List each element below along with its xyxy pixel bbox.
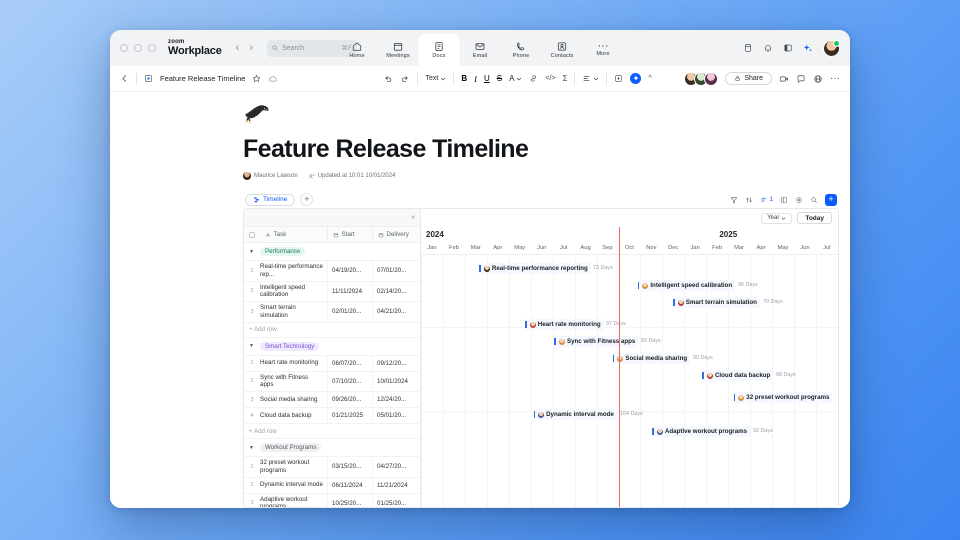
tab-meetings[interactable]: Meetings — [378, 34, 419, 66]
titlebar-actions — [743, 40, 840, 57]
underline-button[interactable]: U — [484, 74, 490, 83]
cloud-sync-icon — [268, 74, 278, 84]
chevron-down-icon — [516, 76, 522, 82]
table-row[interactable]: 2Intelligent speed calibration11/11/2024… — [244, 282, 420, 303]
text-style-label: Text — [425, 75, 438, 82]
cell-start-date[interactable]: 07/10/20... — [327, 372, 372, 392]
cell-task[interactable]: Real-time performance rep... — [260, 261, 327, 281]
cell-start-date[interactable]: 06/07/20... — [327, 356, 372, 371]
gantt-grid-area: Real-time performance reporting73 DaysIn… — [421, 255, 838, 507]
group-tag: Smart Technology — [260, 342, 319, 351]
column-header-task-label: Task — [274, 231, 287, 238]
today-marker-line — [619, 227, 620, 507]
table-row[interactable]: 2Sync with Fitness apps07/10/20...10/01/… — [244, 372, 420, 393]
chevron-down-icon — [781, 216, 786, 221]
ai-sparkle-icon[interactable] — [803, 43, 813, 53]
gantt-gridline — [640, 255, 641, 507]
gantt-duration-label: 95 Days — [738, 280, 758, 291]
gantt-chart-pane: Year Today 20242025 JanFebMarAprMayJunJu… — [421, 209, 838, 507]
add-record-button[interactable]: + — [825, 194, 837, 206]
gantt-month-tick: Jul — [553, 241, 575, 254]
home-icon — [352, 41, 363, 52]
widget-view-bar: Timeline + 1 — [243, 191, 839, 208]
timeline-body: « Task Start — [243, 208, 839, 508]
gantt-month-tick: Jun — [531, 241, 553, 254]
window-titlebar: zoom Workplace ‹ › Search ⌘F Home — [110, 30, 850, 66]
gantt-gridline — [443, 255, 444, 507]
table-header-row: Task Start Delivery — [244, 227, 420, 243]
gantt-bar-handle[interactable] — [534, 411, 536, 418]
column-header-start[interactable]: Start — [327, 227, 372, 242]
timeline-widget: Timeline + 1 — [243, 191, 839, 508]
strikethrough-button[interactable]: S — [497, 74, 502, 83]
page-title: Feature Release Timeline — [243, 135, 850, 164]
gantt-duration-label: 79 Days — [763, 297, 783, 308]
gantt-gridline — [772, 255, 773, 507]
mail-icon — [475, 41, 486, 52]
gantt-gridline — [487, 255, 488, 507]
search-icon[interactable] — [810, 196, 818, 204]
range-select-value: Year — [767, 215, 779, 221]
gantt-bar[interactable]: Real-time performance reporting — [479, 263, 590, 274]
cell-start-date[interactable]: 10/25/20... — [327, 494, 372, 509]
tab-contacts-label: Contacts — [551, 53, 574, 59]
tab-phone-label: Phone — [513, 53, 530, 59]
table-row[interactable]: 1Heart rate monitoring06/07/20...09/12/2… — [244, 356, 420, 372]
gantt-duration-label: 73 Days — [593, 263, 613, 274]
gantt-bar-label: Social media sharing — [625, 355, 687, 362]
document-name[interactable]: Feature Release Timeline — [160, 74, 245, 83]
gantt-gridline — [706, 255, 707, 507]
table-rows-container: ▼Performance1Real-time performance rep..… — [244, 243, 420, 508]
gantt-bar[interactable]: Adaptive workout programs — [652, 426, 750, 437]
app-window: zoom Workplace ‹ › Search ⌘F Home — [110, 30, 850, 508]
document-updated: Updated at 10:01 10/01/2024 — [308, 173, 396, 180]
chevron-down-icon — [593, 76, 599, 82]
table-row[interactable]: 3Smart terrain simulation02/01/20...04/2… — [244, 302, 420, 323]
gantt-bar-avatar — [738, 395, 744, 401]
gantt-month-tick: Nov — [640, 241, 662, 254]
gantt-bar-avatar — [484, 266, 490, 272]
gantt-month-tick: Dec — [662, 241, 684, 254]
gantt-bar-handle[interactable] — [554, 338, 556, 345]
table-group-header[interactable]: ▼Performance — [244, 243, 420, 261]
tab-docs[interactable]: Docs — [419, 34, 460, 66]
doc-file-icon — [144, 74, 153, 83]
document-author: Maurice Lawson — [243, 172, 298, 180]
author-name: Maurice Lawson — [254, 173, 298, 179]
gantt-gridline — [750, 255, 751, 507]
group-count: 1 — [769, 196, 773, 203]
gantt-bar[interactable]: Intelligent speed calibration — [638, 280, 735, 291]
gantt-gridline — [816, 255, 817, 507]
cell-delivery-date[interactable]: 01/25/20... — [372, 494, 420, 509]
brand-workplace-text: Workplace — [168, 46, 222, 57]
lock-icon — [734, 75, 741, 82]
gantt-duration-label: 90 Days — [693, 353, 713, 364]
cell-task[interactable]: Intelligent speed calibration — [260, 282, 327, 302]
row-number[interactable]: 3 — [244, 392, 260, 407]
gantt-year-row: 20242025 — [421, 227, 838, 241]
cell-task[interactable]: 32 preset workout programs — [260, 457, 327, 477]
gantt-month-tick: Feb — [706, 241, 728, 254]
group-tag: Workout Programs — [260, 443, 321, 452]
table-group-header[interactable]: ▼Workout Programs — [244, 439, 420, 457]
gantt-bar[interactable]: Heart rate monitoring — [525, 319, 603, 330]
gantt-month-tick: May — [509, 241, 531, 254]
gantt-duration-label: 97 Days — [606, 319, 626, 330]
star-icon[interactable] — [252, 74, 261, 83]
sort-icon[interactable] — [745, 196, 753, 204]
cell-delivery-date[interactable]: 07/01/20... — [372, 261, 420, 281]
group-icon[interactable]: 1 — [760, 196, 773, 204]
gantt-gridline — [553, 255, 554, 507]
column-header-start-label: Start — [342, 231, 355, 238]
gantt-range-controls: Year Today — [421, 209, 838, 227]
group-tag: Performance — [260, 247, 305, 256]
gantt-gridline — [597, 255, 598, 507]
share-button[interactable]: Share — [725, 72, 772, 85]
collapse-toolbar-button[interactable]: ^ — [648, 75, 651, 82]
collaborator-avatars[interactable] — [684, 72, 718, 86]
cell-task[interactable]: Cloud data backup — [260, 408, 327, 423]
tab-email[interactable]: Email — [460, 34, 501, 66]
gantt-month-tick: Jun — [794, 241, 816, 254]
gantt-month-tick: May — [772, 241, 794, 254]
bell-icon[interactable] — [763, 43, 773, 53]
gantt-bar-handle[interactable] — [479, 265, 481, 272]
forward-arrow-icon[interactable]: › — [249, 42, 253, 54]
cell-start-date[interactable]: 11/11/2024 — [327, 282, 372, 302]
gantt-bar-label: 32 preset workout programs — [746, 394, 829, 401]
gantt-duration-label: 92 Days — [753, 426, 773, 437]
tab-more-label: More — [596, 51, 609, 57]
filter-icon[interactable] — [730, 196, 738, 204]
search-placeholder: Search — [282, 45, 338, 52]
column-header-task[interactable]: Task — [260, 231, 327, 238]
group-collapse-caret[interactable]: ▼ — [249, 343, 254, 349]
eagle-emoji-icon — [243, 102, 269, 124]
cell-start-date[interactable]: 04/19/20... — [327, 261, 372, 281]
today-button[interactable]: Today — [797, 212, 832, 224]
cell-delivery-date[interactable]: 09/12/20... — [372, 356, 420, 371]
gantt-bar-handle[interactable] — [613, 355, 615, 362]
gantt-month-tick: Mar — [728, 241, 750, 254]
cell-delivery-date[interactable]: 02/14/20... — [372, 282, 420, 302]
gantt-bar-handle[interactable] — [638, 282, 640, 289]
view-tab-label: Timeline — [263, 196, 287, 203]
gantt-duration-label: 99 Days — [776, 370, 796, 381]
toolbar-divider — [606, 73, 607, 85]
row-number[interactable]: 3 — [244, 302, 260, 322]
collaborators-icon — [308, 173, 315, 180]
author-avatar — [243, 172, 251, 180]
gantt-bar-handle[interactable] — [734, 394, 736, 401]
align-icon — [582, 74, 591, 83]
cell-start-date[interactable]: 01/21/2025 — [327, 408, 372, 423]
gantt-duration-label: 83 Days — [641, 336, 661, 347]
collapse-panel-button[interactable]: « — [244, 209, 420, 227]
gantt-month-tick: Jan — [421, 241, 443, 254]
gantt-bar-handle[interactable] — [652, 428, 654, 435]
table-row[interactable]: 2Dynamic interval mode06/11/202411/21/20… — [244, 478, 420, 494]
align-dropdown[interactable] — [582, 74, 599, 83]
cell-start-date[interactable]: 09/26/20... — [327, 392, 372, 407]
date-column-icon — [378, 232, 384, 238]
cell-delivery-date[interactable]: 11/21/2024 — [372, 478, 420, 493]
gantt-bar-handle[interactable] — [673, 299, 675, 306]
cell-task[interactable]: Sync with Fitness apps — [260, 372, 327, 392]
row-number[interactable]: 1 — [244, 457, 260, 477]
cell-start-date[interactable]: 02/01/20... — [327, 302, 372, 322]
group-collapse-caret[interactable]: ▼ — [249, 249, 254, 255]
undo-button[interactable] — [383, 74, 393, 84]
gantt-bar[interactable]: 32 preset workout programs — [734, 392, 833, 403]
text-column-icon — [265, 232, 271, 238]
tab-home-label: Home — [349, 53, 364, 59]
gantt-bar-handle[interactable] — [702, 372, 704, 379]
add-view-button[interactable]: + — [300, 193, 313, 206]
toolbar-divider — [136, 73, 137, 85]
comment-icon[interactable] — [796, 74, 806, 84]
gantt-year-label: 2025 — [619, 230, 838, 239]
contacts-icon — [557, 41, 568, 52]
range-select[interactable]: Year — [761, 213, 792, 224]
column-header-delivery[interactable]: Delivery — [372, 227, 420, 242]
row-number[interactable]: 4 — [244, 408, 260, 423]
tab-home[interactable]: Home — [337, 34, 378, 66]
column-header-delivery-label: Delivery — [387, 231, 409, 238]
code-button[interactable]: </> — [545, 75, 555, 82]
table-group-header[interactable]: ▼Smart Technology — [244, 338, 420, 356]
gantt-gridline — [509, 255, 510, 507]
gantt-group-separator — [421, 327, 838, 328]
gantt-bar[interactable]: Social media sharing — [613, 353, 690, 364]
cell-task[interactable]: Heart rate monitoring — [260, 356, 327, 371]
gantt-bar-label: Real-time performance reporting — [492, 265, 588, 272]
cell-task[interactable]: Smart terrain simulation — [260, 302, 327, 322]
gantt-bar-label: Dynamic interval mode — [546, 411, 614, 418]
gantt-gridline — [465, 255, 466, 507]
gantt-month-tick: Jul — [816, 241, 838, 254]
cell-delivery-date[interactable]: 10/01/2024 — [372, 372, 420, 392]
close-button[interactable] — [120, 44, 128, 52]
document-body: Feature Release Timeline Maurice Lawson … — [110, 92, 850, 508]
add-content-button[interactable]: ✦ — [630, 73, 641, 84]
gantt-bar[interactable]: Cloud data backup — [702, 370, 773, 381]
table-row[interactable]: 3Social media sharing09/26/20...12/24/20… — [244, 392, 420, 408]
timeline-icon — [253, 196, 260, 203]
gantt-gridline — [794, 255, 795, 507]
date-column-icon — [333, 232, 339, 238]
cell-delivery-date[interactable]: 12/24/20... — [372, 392, 420, 407]
cell-start-date[interactable]: 03/15/20... — [327, 457, 372, 477]
tab-meetings-label: Meetings — [386, 53, 410, 59]
toolbar-divider — [417, 73, 418, 85]
tab-docs-label: Docs — [432, 53, 445, 59]
cell-start-date[interactable]: 06/11/2024 — [327, 478, 372, 493]
table-row[interactable]: 1Real-time performance rep...04/19/20...… — [244, 261, 420, 282]
row-number[interactable]: 2 — [244, 282, 260, 302]
updated-text: Updated at 10:01 10/01/2024 — [318, 173, 396, 179]
tab-more[interactable]: ··· More — [583, 34, 624, 66]
back-arrow-icon[interactable]: ‹ — [236, 42, 240, 54]
table-row[interactable]: 132 preset workout programs03/15/20...04… — [244, 457, 420, 478]
gantt-bar-label: Sync with Fitness apps — [567, 338, 635, 345]
settings-gear-icon[interactable] — [795, 196, 803, 204]
row-number[interactable]: 2 — [244, 372, 260, 392]
text-style-dropdown[interactable]: Text — [425, 75, 446, 82]
row-number[interactable]: 1 — [244, 356, 260, 371]
gantt-bar-label: Smart terrain simulation — [686, 299, 757, 306]
formula-button[interactable]: Σ — [563, 74, 568, 83]
text-color-button[interactable]: A — [509, 74, 522, 83]
bold-button[interactable]: B — [461, 74, 467, 83]
document-meta: Maurice Lawson Updated at 10:01 10/01/20… — [243, 172, 850, 180]
group-collapse-caret[interactable]: ▼ — [249, 445, 254, 451]
cell-delivery-date[interactable]: 04/21/20... — [372, 302, 420, 322]
gantt-bar[interactable]: Smart terrain simulation — [673, 297, 760, 308]
search-icon — [272, 45, 278, 51]
calendar-icon — [393, 41, 404, 52]
tab-email-label: Email — [473, 53, 488, 59]
widget-tools: 1 + — [730, 194, 837, 206]
gantt-duration-label: 164 Days — [620, 409, 643, 420]
chevron-down-icon — [440, 76, 446, 82]
gantt-bar-label: Intelligent speed calibration — [650, 282, 732, 289]
docs-icon — [434, 41, 445, 52]
cell-delivery-date[interactable]: 05/01/20... — [372, 408, 420, 423]
user-avatar[interactable] — [823, 40, 840, 57]
whiteboard-icon[interactable] — [743, 43, 753, 53]
tab-contacts[interactable]: Contacts — [542, 34, 583, 66]
nav-arrows[interactable]: ‹ › — [236, 42, 253, 54]
insert-block-icon[interactable] — [614, 74, 623, 83]
gantt-bar-avatar — [657, 429, 663, 435]
document-toolbar: Feature Release Timeline Text B I U S A — [110, 66, 850, 92]
cell-task[interactable]: Social media sharing — [260, 392, 327, 407]
toolbar-right-actions: Share ··· — [684, 72, 840, 86]
phone-icon — [516, 41, 527, 52]
gantt-gridline — [575, 255, 576, 507]
gantt-month-tick: Sep — [597, 241, 619, 254]
gantt-bar-avatar — [642, 283, 648, 289]
back-button[interactable] — [120, 74, 129, 83]
gantt-bar-label: Heart rate monitoring — [538, 321, 601, 328]
row-height-icon[interactable] — [780, 196, 788, 204]
gantt-month-tick: Feb — [443, 241, 465, 254]
share-label: Share — [744, 75, 763, 82]
gantt-gridline — [684, 255, 685, 507]
link-icon[interactable] — [529, 74, 538, 83]
zoom-workplace-logo: zoom Workplace — [168, 39, 222, 57]
redo-button[interactable] — [400, 74, 410, 84]
table-row[interactable]: 3Adaptive workout programs10/25/20...01/… — [244, 494, 420, 509]
row-number[interactable]: 2 — [244, 478, 260, 493]
ellipsis-icon: ··· — [598, 43, 609, 50]
gantt-bar-avatar — [530, 322, 536, 328]
maximize-button[interactable] — [148, 44, 156, 52]
add-row-button[interactable]: + Add row — [244, 424, 420, 439]
gantt-month-tick: Jan — [684, 241, 706, 254]
gantt-bar-handle[interactable] — [525, 321, 527, 328]
gantt-month-tick: Apr — [487, 241, 509, 254]
cell-task[interactable]: Dynamic interval mode — [260, 478, 327, 493]
tab-phone[interactable]: Phone — [501, 34, 542, 66]
view-tab-timeline[interactable]: Timeline — [245, 194, 295, 206]
minimize-button[interactable] — [134, 44, 142, 52]
select-all-checkbox[interactable] — [244, 232, 260, 238]
row-number[interactable]: 1 — [244, 261, 260, 281]
gantt-bar[interactable]: Dynamic interval mode — [534, 409, 617, 420]
toolbar-divider — [453, 73, 454, 85]
task-table-pane: « Task Start — [244, 209, 421, 507]
video-icon[interactable] — [779, 74, 789, 84]
table-row[interactable]: 4Cloud data backup01/21/202505/01/20... — [244, 408, 420, 424]
row-number[interactable]: 3 — [244, 494, 260, 509]
gantt-month-tick: Aug — [575, 241, 597, 254]
globe-icon[interactable] — [813, 74, 823, 84]
gantt-month-row: JanFebMarAprMayJunJulAugSepOctNovDecJanF… — [421, 241, 838, 255]
cell-delivery-date[interactable]: 04/27/20... — [372, 457, 420, 477]
gantt-gridline — [421, 255, 422, 507]
avatar[interactable] — [704, 72, 718, 86]
gantt-year-label: 2024 — [421, 230, 619, 239]
gantt-bar-avatar — [538, 412, 544, 418]
gantt-bar[interactable]: Sync with Fitness apps — [554, 336, 638, 347]
add-row-button[interactable]: + Add row — [244, 323, 420, 338]
sidebar-toggle-icon[interactable] — [783, 43, 793, 53]
gantt-month-tick: Apr — [750, 241, 772, 254]
gantt-gridline — [662, 255, 663, 507]
gantt-month-tick: Mar — [465, 241, 487, 254]
italic-button[interactable]: I — [474, 74, 477, 84]
gantt-gridline — [728, 255, 729, 507]
gantt-bar-avatar — [707, 373, 713, 379]
window-controls[interactable] — [120, 44, 156, 52]
main-tab-bar[interactable]: Home Meetings Docs — [337, 30, 624, 66]
toolbar-divider — [574, 73, 575, 85]
gantt-gridline — [531, 255, 532, 507]
text-color-letter: A — [509, 74, 514, 83]
gantt-bar-label: Cloud data backup — [715, 372, 770, 379]
gantt-month-tick: Oct — [618, 241, 640, 254]
gantt-bar-avatar — [559, 339, 565, 345]
gantt-bar-avatar — [678, 300, 684, 306]
more-options-button[interactable]: ··· — [830, 77, 840, 81]
gantt-bar-label: Adaptive workout programs — [665, 428, 747, 435]
cell-task[interactable]: Adaptive workout programs — [260, 494, 327, 509]
